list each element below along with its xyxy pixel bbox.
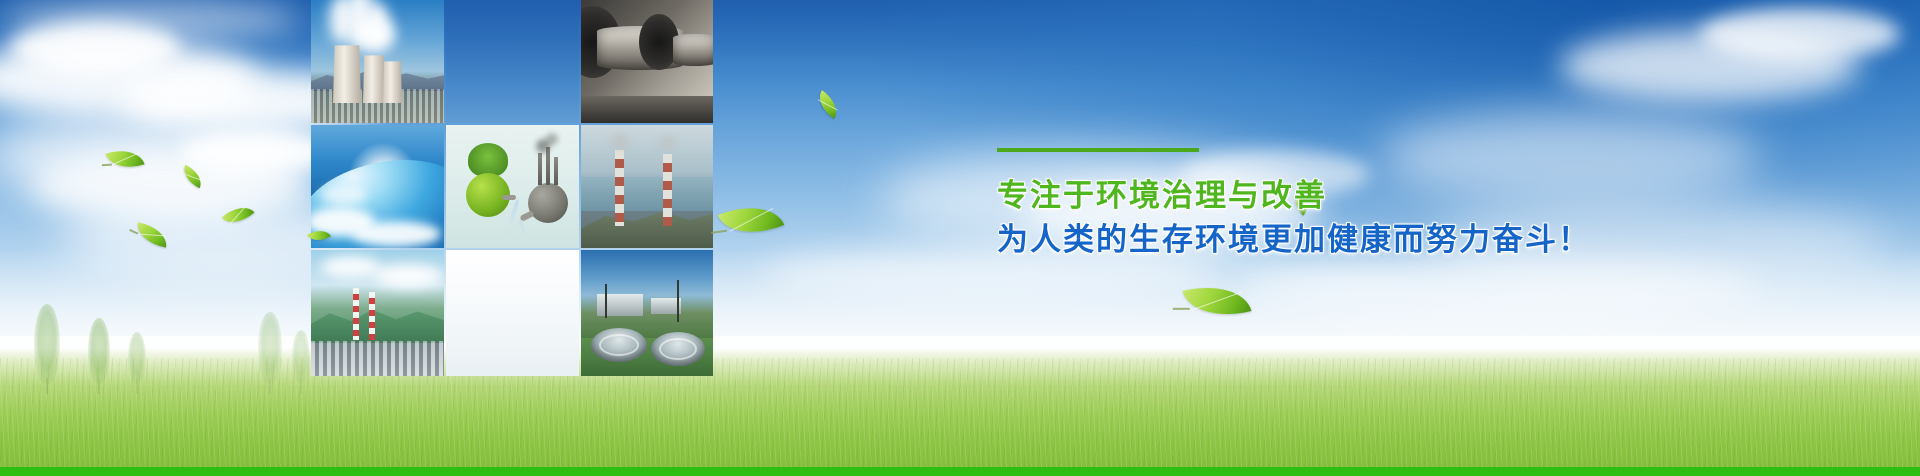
mosaic-cell-industrial-machinery <box>581 0 713 123</box>
bottom-green-bar <box>0 467 1920 476</box>
mosaic-cell-blue-tile <box>446 0 579 123</box>
cloud-wisp <box>0 0 300 40</box>
distant-tree <box>34 304 60 384</box>
headline-line-1: 专注于环境治理与改善 <box>997 178 1697 215</box>
mosaic-cell-eco-globes <box>446 125 579 248</box>
distant-tree <box>292 330 310 384</box>
headline-block: 专注于环境治理与改善 为人类的生存环境更加健康而努力奋斗！ <box>997 148 1697 258</box>
photo-mosaic <box>311 0 713 376</box>
mosaic-cell-mountain-factory <box>311 250 444 376</box>
mosaic-cell-cooling-towers <box>311 0 444 123</box>
hero-banner: 专注于环境治理与改善 为人类的生存环境更加健康而努力奋斗！ <box>0 0 1920 476</box>
grass-texture <box>0 358 1920 476</box>
distant-tree <box>128 332 146 384</box>
headline-line-2: 为人类的生存环境更加健康而努力奋斗！ <box>997 222 1697 259</box>
mosaic-cell-ocean-wave <box>311 125 444 248</box>
distant-tree <box>258 312 282 384</box>
cloud-puff <box>1700 8 1900 60</box>
headline-rule <box>997 148 1199 152</box>
mosaic-cell-coastal-chimneys <box>581 125 713 248</box>
mosaic-cell-white-tile <box>446 250 579 376</box>
mosaic-cell-water-treatment <box>581 250 713 376</box>
distant-tree <box>88 318 110 384</box>
